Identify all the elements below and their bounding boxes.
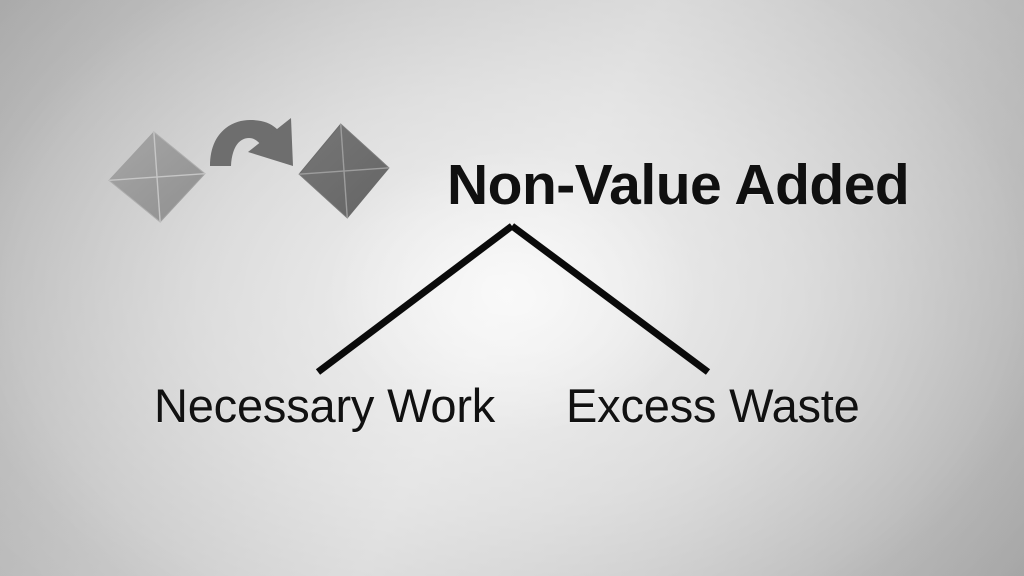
connector-left-branch <box>318 226 512 372</box>
octahedron-dark-icon <box>296 121 392 221</box>
page-title: Non-Value Added <box>447 152 909 218</box>
inverted-v-connector <box>318 226 708 372</box>
octahedron-light-icon <box>106 129 208 225</box>
diagram-graphics <box>0 0 1024 576</box>
branch-label-necessary-work: Necessary Work <box>154 378 495 433</box>
connector-right-branch <box>512 226 708 372</box>
branch-label-excess-waste: Excess Waste <box>566 378 860 433</box>
slide-canvas: Non-Value Added Necessary Work Excess Wa… <box>0 0 1024 576</box>
curved-right-arrow-icon <box>210 118 293 166</box>
